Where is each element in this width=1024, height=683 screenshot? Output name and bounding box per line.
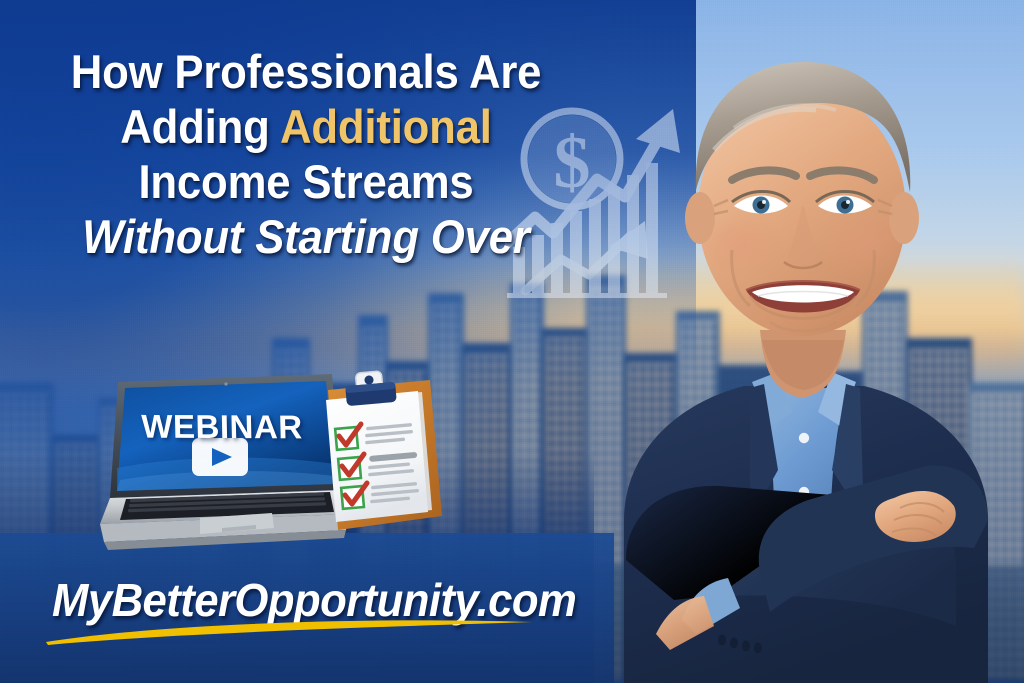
play-button-icon	[192, 438, 248, 476]
gold-swoosh-underline	[46, 615, 532, 645]
headline-block: How Professionals Are Adding Additional …	[46, 44, 566, 264]
headline-line-2-accent: Additional	[280, 100, 492, 153]
advertisement-banner: $	[0, 0, 1024, 683]
businessman-photo	[564, 0, 1024, 683]
headline-line-1: How Professionals Are	[64, 44, 548, 99]
headline-line-2: Adding Additional	[64, 99, 548, 154]
headline-line-2-plain: Adding	[120, 100, 280, 153]
headline-line-3: Income Streams	[64, 154, 548, 209]
clipboard-clip-icon	[345, 371, 397, 406]
checklist-clipboard-graphic	[310, 370, 442, 532]
shirt-button-1	[799, 433, 809, 443]
headline-line-4: Without Starting Over	[64, 209, 548, 264]
webcam-icon	[224, 382, 227, 385]
website-url-block[interactable]: MyBetterOpportunity.com	[52, 575, 552, 625]
